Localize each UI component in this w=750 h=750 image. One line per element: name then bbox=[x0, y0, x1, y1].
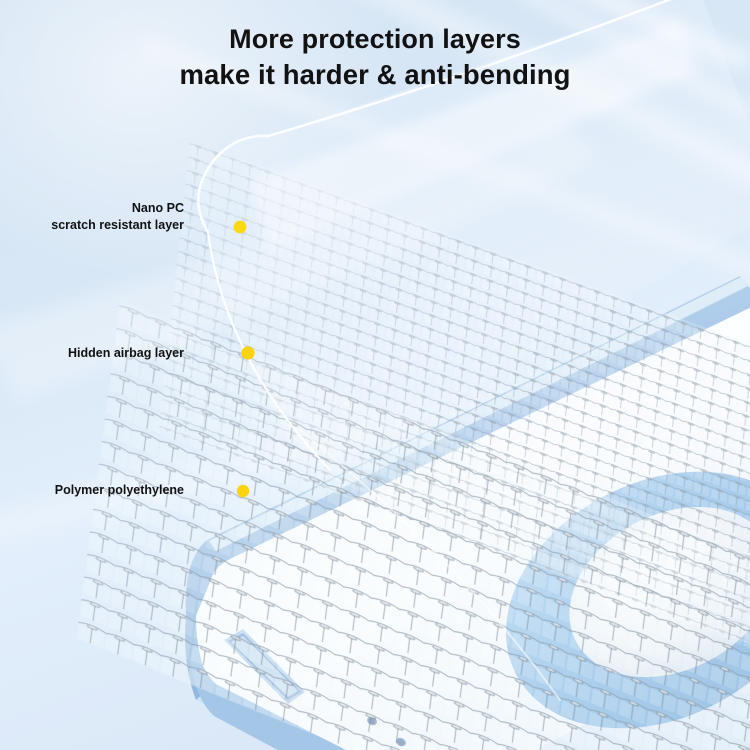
product-feature-image: More protection layers make it harder & … bbox=[0, 0, 750, 750]
headline-line-2: make it harder & anti-bending bbox=[0, 57, 750, 92]
callout-label-nano-pc: Nano PC scratch resistant layer bbox=[14, 200, 184, 234]
callout-leader-lines bbox=[0, 0, 750, 750]
callout-dot-hidden-airbag bbox=[241, 346, 254, 359]
page-title: More protection layers make it harder & … bbox=[0, 22, 750, 92]
callout-label-hidden-airbag: Hidden airbag layer bbox=[14, 345, 184, 362]
callout-label-polymer-polyethylene: Polymer polyethylene bbox=[14, 482, 184, 499]
callout-dot-nano-pc bbox=[234, 221, 247, 234]
headline-line-1: More protection layers bbox=[0, 22, 750, 57]
callout-dot-polymer bbox=[237, 485, 249, 497]
